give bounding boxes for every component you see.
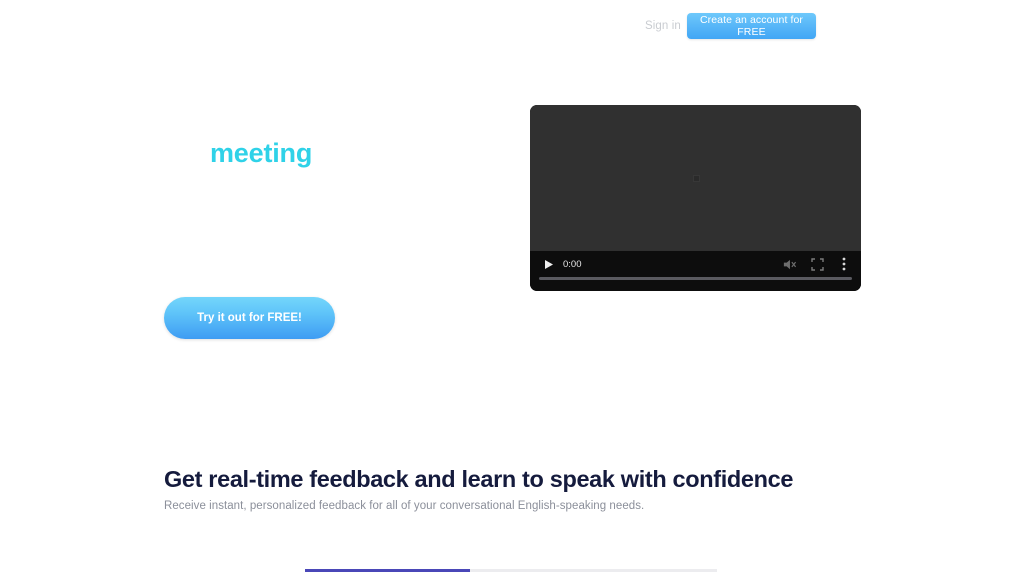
video-time-display: 0:00 [563,259,582,270]
section-heading: Get real-time feedback and learn to spea… [164,466,793,493]
more-vertical-icon[interactable] [838,256,850,272]
try-it-free-button[interactable]: Try it out for FREE! [164,297,335,339]
site-header: Sign in Create an account for FREE [0,0,1024,52]
video-controls-row: 0:00 [530,251,861,277]
hero-keyword: meeting [210,138,312,169]
broken-image-icon [693,175,700,182]
landing-page: Sign in Create an account for FREE meeti… [0,0,1024,576]
page-progress-fill [305,569,470,572]
play-icon[interactable] [541,257,555,271]
section-subtitle: Receive instant, personalized feedback f… [164,500,644,512]
video-scrubber[interactable] [539,277,852,280]
video-controls-bar: 0:00 [530,251,861,291]
create-account-button[interactable]: Create an account for FREE [687,13,816,39]
video-stage[interactable] [530,105,861,251]
volume-muted-icon[interactable] [781,256,797,272]
sign-in-link[interactable]: Sign in [645,20,681,32]
page-progress-bar [305,569,717,572]
fullscreen-icon[interactable] [810,257,824,271]
video-player[interactable]: 0:00 [530,105,861,291]
